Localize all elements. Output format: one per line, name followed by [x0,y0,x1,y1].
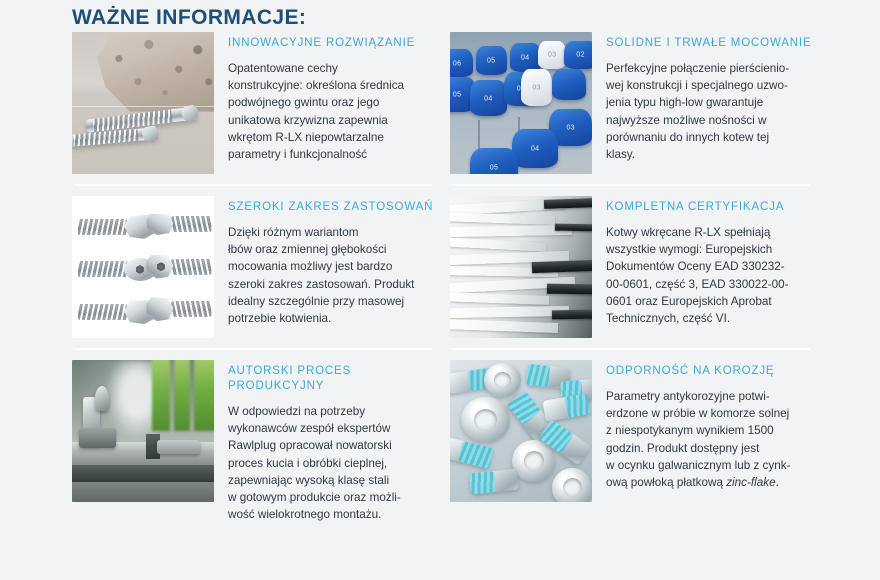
stadium-seats-photo: 06 05 04 03 02 05 04 03 03 03 04 05 [450,32,592,174]
card-text: W odpowiedzi na potrzeby wykonawców zesp… [228,403,472,523]
right-column: 06 05 04 03 02 05 04 03 03 03 04 05 [450,32,850,512]
card-text-part-1: Parametry antykorozyjne potwi- erdzone w… [606,390,790,489]
card-innowacyjne-rozwiazanie: INNOWACYJNE ROZWIĄZANIE Opatentowane cec… [72,32,472,184]
card-body: KOMPLETNA CERTYFIKACJA Kotwy wkręcane R-… [592,196,850,327]
card-text: Kotwy wkręcane R-LX spełniają wszystkie … [606,224,850,327]
concrete-screws-photo [72,32,214,174]
card-body: INNOWACYJNE ROZWIĄZANIE Opatentowane cec… [214,32,472,163]
info-page: WAŻNE INFORMACJE: INNOWACYJNE ROZWIĄZANI… [0,0,880,580]
card-solidne-i-trwale-mocowanie: 06 05 04 03 02 05 04 03 03 03 04 05 [450,32,850,184]
card-szeroki-zakres-zastosowan: SZEROKI ZAKRES ZASTOSOWAŃ Dzięki różnym … [72,184,472,348]
card-text: Opatentowane cechy konstrukcyjne: określ… [228,60,472,163]
production-machine-photo [72,360,214,502]
card-autorski-proces-produkcyjny: AUTORSKI PROCES PRODUKCYJNY W odpowiedzi… [72,348,472,533]
page-title: WAŻNE INFORMACJE: [72,6,306,30]
screw-head-types-photo [72,196,214,338]
card-heading: INNOWACYJNE ROZWIĄZANIE [228,36,472,51]
card-body: AUTORSKI PROCES PRODUKCYJNY W odpowiedzi… [214,360,472,523]
card-kompletna-certyfikacja: KOMPLETNA CERTYFIKACJA Kotwy wkręcane R-… [450,184,850,348]
card-odpornosc-na-korozje: ODPORNOŚĆ NA KOROZJĘ Parametry antykoroz… [450,348,850,512]
card-text-corrosion: Parametry antykorozyjne potwi- erdzone w… [606,388,850,491]
left-column: INNOWACYJNE ROZWIĄZANIE Opatentowane cec… [72,32,472,533]
card-body: ODPORNOŚĆ NA KOROZJĘ Parametry antykoroz… [592,360,850,491]
card-text: Dzięki różnym wariantom łbów oraz zmienn… [228,224,472,327]
card-body: SOLIDNE I TRWAŁE MOCOWANIE Perfekcyjne p… [592,32,850,163]
card-heading: SOLIDNE I TRWAŁE MOCOWANIE [606,36,850,51]
card-heading: ODPORNOŚĆ NA KOROZJĘ [606,364,850,379]
card-text: Perfekcyjne połączenie pierścienio- wej … [606,60,850,163]
card-body: SZEROKI ZAKRES ZASTOSOWAŃ Dzięki różnym … [214,196,472,327]
card-heading: KOMPLETNA CERTYFIKACJA [606,200,850,215]
document-stack-photo [450,196,592,338]
card-heading: AUTORSKI PROCES PRODUKCYJNY [228,364,472,394]
zinc-flake-bolts-photo [450,360,592,502]
card-text-italic: zinc-flake [726,476,775,489]
card-text-part-2: . [776,476,779,489]
card-heading: SZEROKI ZAKRES ZASTOSOWAŃ [228,200,472,215]
